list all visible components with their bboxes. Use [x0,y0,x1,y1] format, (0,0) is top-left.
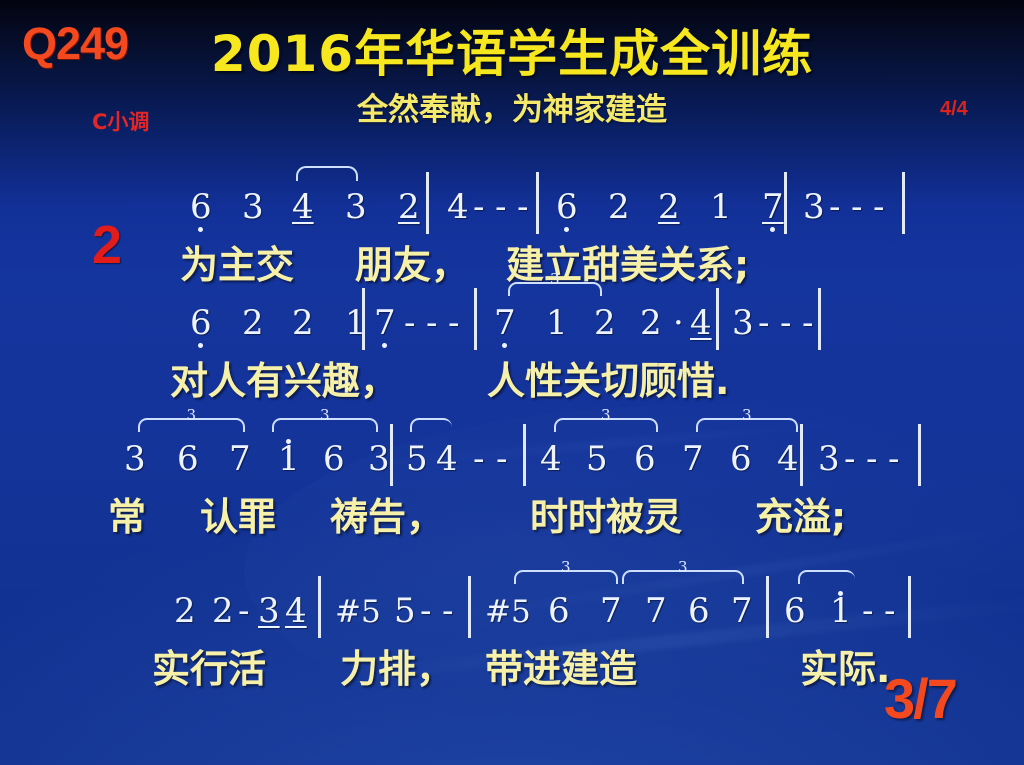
barline [818,288,821,350]
octave-dot-high [838,591,843,596]
score-line: 362217---7122·43---对人有兴趣，人性关切顾惜. [0,284,1024,402]
lyric-row: 对人有兴趣，人性关切顾惜. [0,346,1024,402]
triplet-number: 3 [547,272,563,287]
barline [716,288,719,350]
lyric-row: 实行活力排，带进建造实际. [0,634,1024,690]
time-signature: 4/4 [940,98,968,121]
note: 4 [540,442,562,476]
note-row: 362217---7122·43--- [0,284,1024,346]
note: - [780,306,795,340]
barline [784,172,787,234]
note: 4 [436,442,458,476]
barline [390,424,393,486]
note: 3 [818,442,840,476]
note: 3 [732,306,754,340]
note: - [238,594,253,628]
note: 6 [688,594,710,628]
note: - [517,190,532,224]
score-line: 3322-34#55--#56776761--实行活力排，带进建造实际. [0,572,1024,690]
lyric-text: 对人有兴趣， [170,362,398,400]
slur-mark [296,166,358,181]
note: - [884,594,899,628]
note: 4 [292,190,314,224]
barline [800,424,803,486]
note: 6 [548,594,570,628]
triplet-number: 3 [675,560,691,575]
lyric-text: 人性关切顾惜. [487,362,729,400]
note: 3 [242,190,264,224]
triplet-number: 3 [317,408,333,423]
beam-bracket [798,570,855,584]
beam-bracket [410,418,452,432]
note: 6 [634,442,656,476]
note: 6 [177,442,199,476]
slide-canvas: Q249 2016年华语学生成全训练 全然奉献，为神家建造 C小调 4/4 2 … [0,0,1024,765]
barline [474,288,477,350]
lyric-text: 常 [108,498,146,536]
note: - [473,442,488,476]
note: 3 [368,442,390,476]
page-title: 2016年华语学生成全训练 [0,14,1024,86]
note: - [866,442,881,476]
note: - [802,306,817,340]
note: 1 [710,190,732,224]
note: 2 [398,190,420,224]
note: 3 [345,190,367,224]
lyric-text: 认罪 [200,498,276,536]
note: #5 [335,597,381,628]
note: 7 [731,594,753,628]
note: · [673,306,684,340]
note: 7 [682,442,704,476]
note-row: 634324---622173--- [0,168,1024,230]
barline [536,172,539,234]
lyric-text: 实行活 [152,650,266,688]
note: 7 [600,594,622,628]
octave-dot-high [286,439,291,444]
note: - [758,306,773,340]
lyric-text: 祷告， [330,498,444,536]
lyric-row: 为主交朋友，建立甜美关系; [0,230,1024,286]
barline [468,576,471,638]
note: 7 [229,442,251,476]
note: 6 [190,190,212,224]
key-signature: C小调 [92,106,149,136]
lyric-text: 朋友， [355,246,469,284]
note: - [426,306,441,340]
note: 2 [174,594,196,628]
note: 7 [762,190,784,224]
lyric-text: 力排， [340,650,454,688]
note: 3 [803,190,825,224]
note: - [851,190,866,224]
lyric-row: 常认罪祷告，时时被灵充溢; [0,482,1024,538]
note: 6 [190,306,212,340]
barline [362,288,365,350]
note: 5 [406,442,428,476]
note: - [473,190,488,224]
note: - [448,306,463,340]
note-row: 3322-34#55--#56776761-- [0,572,1024,634]
barline [902,172,905,234]
note: 6 [323,442,345,476]
note: - [442,594,457,628]
note: 6 [784,594,806,628]
barline [918,424,921,486]
note: 1 [546,306,568,340]
note: 2 [212,594,234,628]
triplet-number: 3 [598,408,614,423]
note: 1 [830,594,852,628]
note: 2 [242,306,264,340]
note: 1 [278,442,300,476]
note: 6 [556,190,578,224]
note: 2 [658,190,680,224]
note: 2 [608,190,630,224]
triplet-number: 3 [184,408,200,423]
note: 5 [394,594,416,628]
note: - [888,442,903,476]
barline [908,576,911,638]
note: - [844,442,859,476]
note: 3 [124,442,146,476]
triplet-number: 3 [739,408,755,423]
lyric-text: 时时被灵 [530,498,682,536]
note: - [404,306,419,340]
lyric-text: 充溢; [755,498,846,536]
note: 2 [594,306,616,340]
score-line: 333336716354--4567643---常认罪祷告，时时被灵充溢; [0,420,1024,538]
note: 3 [258,594,280,628]
lyric-text: 建立甜美关系; [506,246,749,284]
barline [318,576,321,638]
note: 4 [690,306,712,340]
note: - [829,190,844,224]
note: - [862,594,877,628]
note: - [873,190,888,224]
note: 7 [374,306,396,340]
note: 4 [777,442,799,476]
subtitle: 全然奉献，为神家建造 [0,84,1024,129]
note: 2 [292,306,314,340]
barline [766,576,769,638]
lyric-text: 带进建造 [485,650,637,688]
score-line: 634324---622173---为主交朋友，建立甜美关系; [0,168,1024,286]
note: 6 [730,442,752,476]
note: 7 [494,306,516,340]
note: - [420,594,435,628]
note: 4 [447,190,469,224]
triplet-number: 3 [558,560,574,575]
note-row: 333336716354--4567643--- [0,420,1024,482]
note: 2 [640,306,662,340]
note: - [496,442,511,476]
lyric-text: 实际. [800,650,890,688]
note: 7 [645,594,667,628]
lyric-text: 为主交 [180,246,294,284]
note: - [495,190,510,224]
note: 4 [285,594,307,628]
barline [426,172,429,234]
note: 5 [586,442,608,476]
barline [523,424,526,486]
note: #5 [485,597,531,628]
